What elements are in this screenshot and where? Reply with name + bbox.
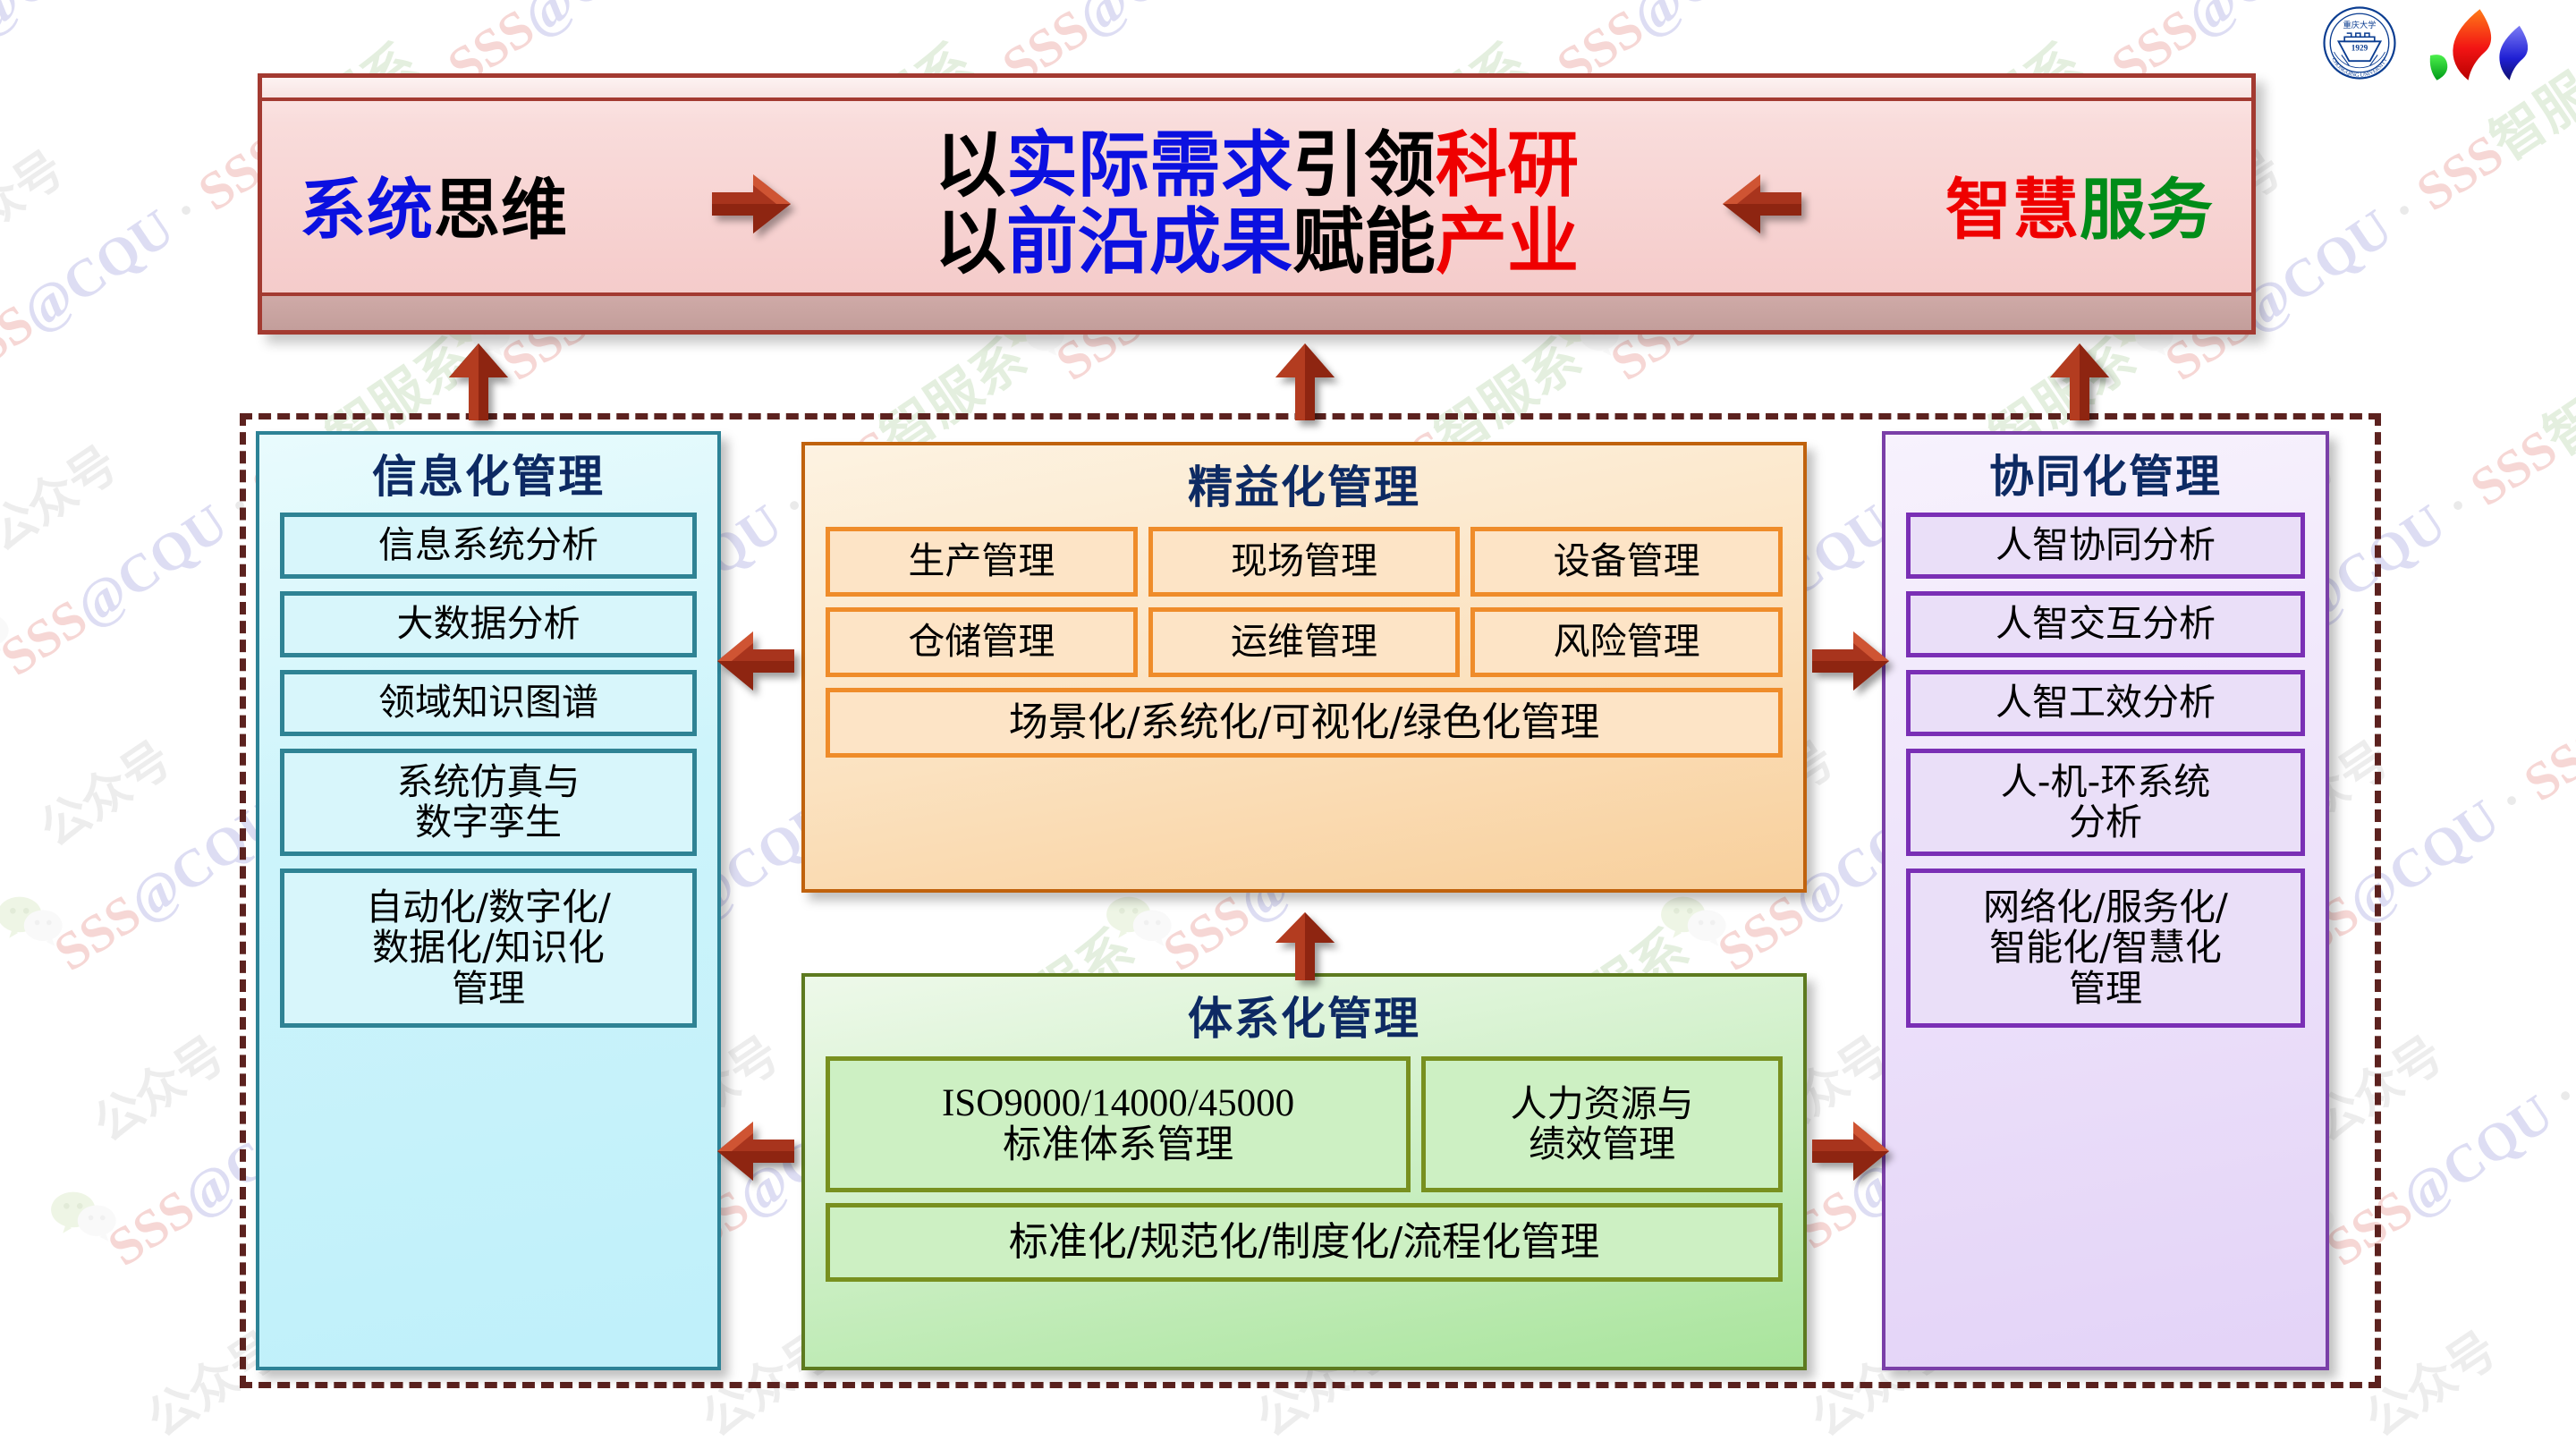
slogan-run: 系统 <box>300 172 434 249</box>
left-item-list: 信息系统分析 大数据分析 领域知识图谱 系统仿真与 数字孪生 自动化/数字化/ … <box>266 513 711 1028</box>
watermark-channel: 公众号 <box>77 1015 236 1155</box>
slogan-run: 思维 <box>434 172 568 249</box>
slogan-line: 以前沿成果赋能产业 <box>935 204 1579 281</box>
arrow-center-to-left-top-icon <box>716 628 796 694</box>
panel-collaborative-management: 协同化管理 人智协同分析 人智交互分析 人智工效分析 人-机-环系统 分析 网络… <box>1882 431 2329 1370</box>
row-item-left[interactable]: ISO9000/14000/45000 标准体系管理 <box>826 1056 1411 1192</box>
list-item[interactable]: 人智交互分析 <box>1906 591 2305 657</box>
slogan-run: 引领 <box>1292 123 1436 207</box>
banner-center-slogan: 以实际需求引领科研以前沿成果赋能产业 <box>935 127 1579 282</box>
svg-text:1929: 1929 <box>2351 43 2368 52</box>
list-item[interactable]: 系统仿真与 数字孪生 <box>280 749 697 856</box>
grid-item[interactable]: 仓储管理 <box>826 607 1138 677</box>
watermark-channel: 公众号 <box>0 425 129 564</box>
slogan-run: 赋能 <box>1292 200 1436 284</box>
grid-item[interactable]: 运维管理 <box>1148 607 1461 677</box>
slogan-run: 实际需求 <box>1006 123 1292 207</box>
top-banner: 系统思维 以实际需求引领科研以前沿成果赋能产业 智慧服务 <box>258 73 2256 335</box>
grid-item[interactable]: 生产管理 <box>826 527 1138 597</box>
list-item[interactable]: 领域知识图谱 <box>280 670 697 736</box>
slogan-run: 科研 <box>1436 123 1579 207</box>
sss-flame-logo-icon <box>2420 7 2528 82</box>
system-row: ISO9000/14000/45000 标准体系管理 人力资源与 绩效管理 <box>811 1056 1797 1192</box>
list-item[interactable]: 人-机-环系统 分析 <box>1906 749 2305 856</box>
list-item[interactable]: 人智协同分析 <box>1906 513 2305 579</box>
arrow-up-right-icon <box>2048 343 2111 420</box>
list-item[interactable]: 人智工效分析 <box>1906 670 2305 736</box>
svg-text:重庆大学: 重庆大学 <box>2343 20 2377 30</box>
slogan-run: 产业 <box>1436 200 1579 284</box>
arrow-up-left-icon <box>447 343 510 420</box>
lean-wide-row: 场景化/系统化/可视化/绿色化管理 <box>811 688 1797 758</box>
arrow-left-icon <box>1721 171 1803 237</box>
arrow-right-icon <box>710 171 792 237</box>
logo-group: 1929 重庆大学 CHONGQING UNIVERSITY <box>2322 5 2565 82</box>
grid-item[interactable]: 现场管理 <box>1148 527 1461 597</box>
row-item-right[interactable]: 人力资源与 绩效管理 <box>1421 1056 1783 1192</box>
arrow-center-to-right-top-icon <box>1810 628 1891 694</box>
wechat-icon <box>0 596 16 655</box>
slogan-run: 智慧 <box>1945 172 2080 249</box>
slogan-run: 服务 <box>2080 172 2214 249</box>
watermark-channel: 公众号 <box>0 130 75 269</box>
banner-left-slogan: 系统思维 <box>300 157 568 252</box>
list-item[interactable]: 网络化/服务化/ 智能化/智慧化 管理 <box>1906 869 2305 1028</box>
lean-grid: 生产管理 现场管理 设备管理 仓储管理 运维管理 风险管理 <box>811 527 1797 677</box>
grid-item[interactable]: 设备管理 <box>1470 527 1783 597</box>
list-item[interactable]: 大数据分析 <box>280 591 697 657</box>
right-item-list: 人智协同分析 人智交互分析 人智工效分析 人-机-环系统 分析 网络化/服务化/… <box>1892 513 2319 1028</box>
arrow-center-to-left-bottom-icon <box>716 1118 796 1184</box>
list-item[interactable]: 信息系统分析 <box>280 513 697 579</box>
panel-information-management: 信息化管理 信息系统分析 大数据分析 领域知识图谱 系统仿真与 数字孪生 自动化… <box>256 431 721 1370</box>
watermark-channel: 公众号 <box>23 720 182 860</box>
panel-title-right: 协同化管理 <box>1989 441 2222 505</box>
chongqing-university-seal-icon: 1929 重庆大学 CHONGQING UNIVERSITY <box>2322 5 2397 80</box>
wechat-icon <box>0 891 70 950</box>
slogan-run: 以 <box>935 123 1006 207</box>
arrow-center-to-right-bottom-icon <box>1810 1118 1891 1184</box>
panel-title-center-bottom: 体系化管理 <box>1188 983 1420 1047</box>
slogan-run: 前沿成果 <box>1006 200 1292 284</box>
wechat-icon <box>47 1186 123 1245</box>
panel-title-center-top: 精益化管理 <box>1188 452 1420 516</box>
diagram-canvas: SSS@CQU · SSS智服系公众号SSS@CQU · SSS智服系公众号SS… <box>0 0 2576 1449</box>
slogan-line: 以实际需求引领科研 <box>935 127 1579 204</box>
grid-item[interactable]: 风险管理 <box>1470 607 1783 677</box>
system-wide-row: 标准化/规范化/制度化/流程化管理 <box>811 1203 1797 1282</box>
arrow-up-center-icon <box>1274 343 1336 420</box>
wide-item[interactable]: 标准化/规范化/制度化/流程化管理 <box>826 1203 1783 1282</box>
banner-right-slogan: 智慧服务 <box>1945 157 2214 252</box>
panel-system-management: 体系化管理 ISO9000/14000/45000 标准体系管理 人力资源与 绩… <box>801 973 1807 1370</box>
arrow-up-inner-icon <box>1274 912 1336 980</box>
panel-lean-management: 精益化管理 生产管理 现场管理 设备管理 仓储管理 运维管理 风险管理 场景化/… <box>801 442 1807 893</box>
panel-title-left: 信息化管理 <box>372 441 605 505</box>
wide-item[interactable]: 场景化/系统化/可视化/绿色化管理 <box>826 688 1783 758</box>
slogan-run: 以 <box>935 200 1006 284</box>
list-item[interactable]: 自动化/数字化/ 数据化/知识化 管理 <box>280 869 697 1028</box>
